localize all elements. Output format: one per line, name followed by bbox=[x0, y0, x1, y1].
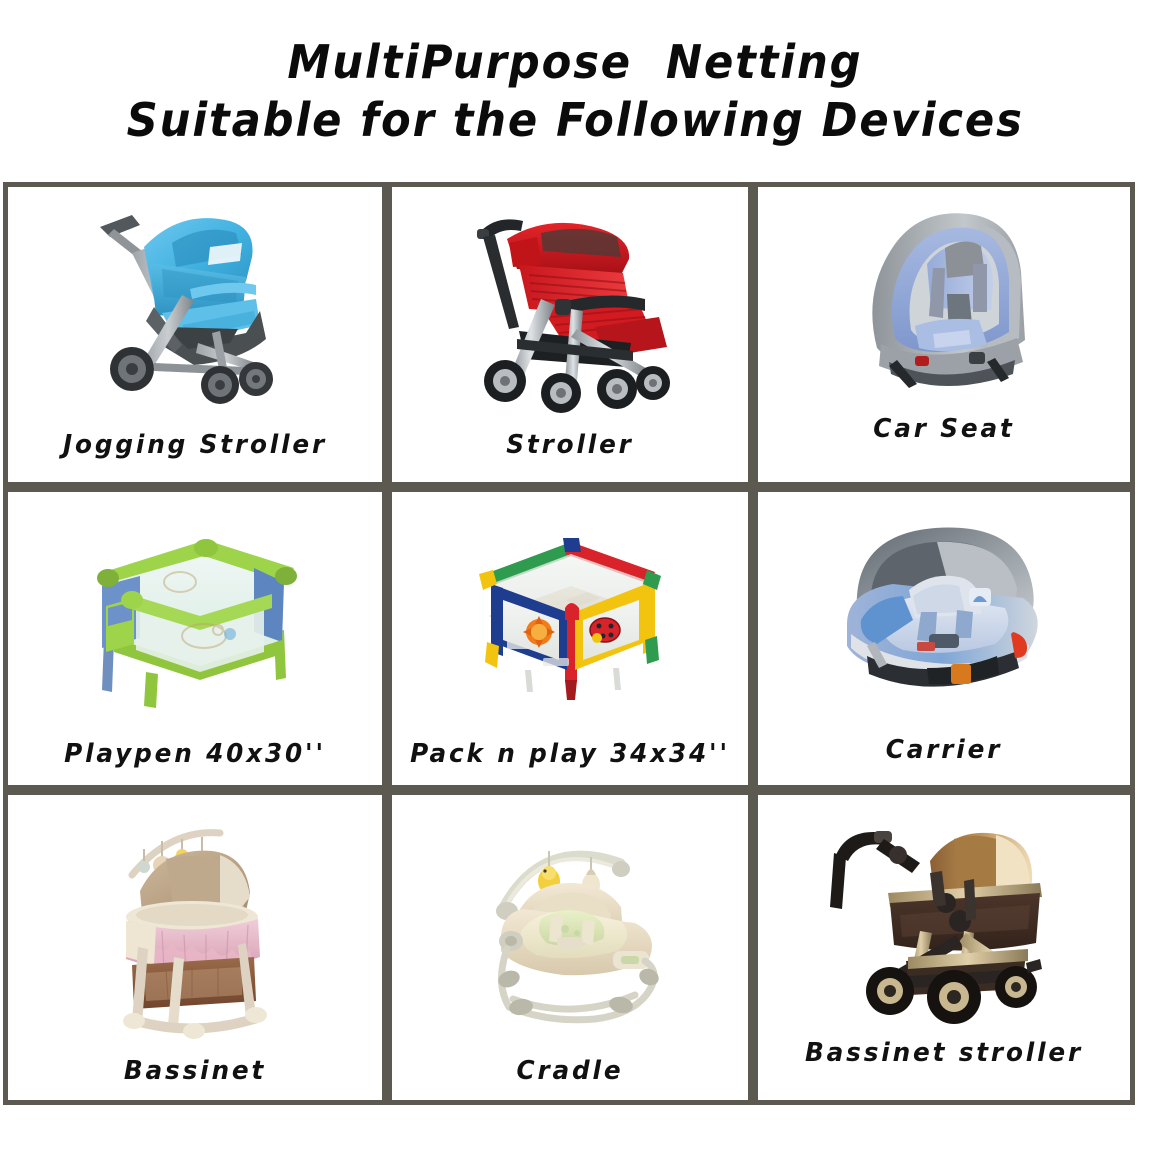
cell-label: Carrier bbox=[767, 735, 1120, 785]
jogging-stroller-image bbox=[8, 187, 382, 430]
grid-cell-carrier[interactable]: Carrier bbox=[753, 487, 1135, 790]
playpen-image bbox=[8, 492, 382, 739]
cell-label: Pack n play 34x34'' bbox=[401, 739, 739, 785]
grid-cell-car-seat[interactable]: Car Seat bbox=[753, 182, 1135, 487]
grid-cell-jogging-stroller[interactable]: Jogging Stroller bbox=[3, 182, 387, 487]
cell-label: Stroller bbox=[401, 430, 739, 482]
cell-label: Cradle bbox=[401, 1056, 739, 1100]
pack-n-play-image bbox=[392, 492, 748, 739]
cell-label: Bassinet stroller bbox=[767, 1038, 1120, 1100]
cradle-image bbox=[392, 795, 748, 1056]
cell-label: Bassinet bbox=[17, 1056, 372, 1100]
page-title-line-1: MultiPurpose Netting bbox=[287, 37, 862, 87]
product-compatibility-poster: MultiPurpose Netting Suitable for the Fo… bbox=[0, 0, 1150, 1150]
grid-cell-bassinet[interactable]: Bassinet bbox=[3, 790, 387, 1105]
cell-label: Playpen 40x30'' bbox=[17, 739, 372, 785]
grid-cell-pack-n-play[interactable]: Pack n play 34x34'' bbox=[387, 487, 753, 790]
device-grid: Jogging Stroller bbox=[3, 182, 1135, 1105]
cell-label: Car Seat bbox=[767, 414, 1120, 482]
grid-cell-cradle[interactable]: Cradle bbox=[387, 790, 753, 1105]
bassinet-stroller-image bbox=[758, 795, 1130, 1038]
grid-cell-stroller[interactable]: Stroller bbox=[387, 182, 753, 487]
grid-cell-playpen[interactable]: Playpen 40x30'' bbox=[3, 487, 387, 790]
page-title-line-2: Suitable for the Following Devices bbox=[126, 95, 1023, 145]
car-seat-image bbox=[758, 187, 1130, 414]
cell-label: Jogging Stroller bbox=[17, 430, 372, 482]
grid-cell-bassinet-stroller[interactable]: Bassinet stroller bbox=[753, 790, 1135, 1105]
bassinet-image bbox=[8, 795, 382, 1056]
stroller-image bbox=[392, 187, 748, 430]
carrier-image bbox=[758, 492, 1130, 735]
poster-header: MultiPurpose Netting Suitable for the Fo… bbox=[0, 0, 1150, 182]
